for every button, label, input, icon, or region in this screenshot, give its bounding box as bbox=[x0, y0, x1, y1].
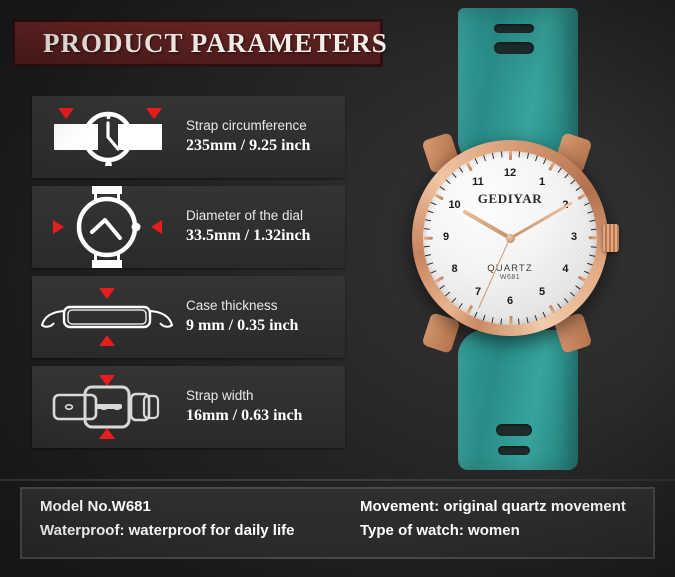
parameter-label: Case thickness bbox=[186, 299, 345, 314]
case-thickness-icon bbox=[32, 276, 182, 358]
info-waterproof: Waterproof: waterproof for daily life bbox=[40, 522, 360, 539]
panel-separator bbox=[0, 479, 675, 481]
watch-dial: 123456789101112 GEDIYAR QUARTZ W681 bbox=[423, 151, 597, 325]
dial-tick bbox=[510, 316, 512, 325]
strap-slot bbox=[498, 446, 530, 455]
marker-triangle-left bbox=[151, 220, 162, 234]
product-info-panel: Model No.W681 Movement: original quartz … bbox=[20, 487, 655, 559]
dial-tick bbox=[424, 229, 430, 230]
dial-tick bbox=[510, 151, 512, 160]
parameter-value: 33.5mm / 1.32inch bbox=[186, 227, 345, 245]
marker-triangle-right bbox=[53, 220, 64, 234]
page-title-bar: PRODUCT PARAMETERS bbox=[12, 19, 383, 67]
parameter-card-case-thickness: Case thickness 9 mm / 0.35 inch bbox=[32, 276, 345, 358]
dial-numeral: 1 bbox=[534, 176, 550, 188]
marker-triangle-up bbox=[99, 335, 115, 346]
parameter-card-list: Strap circumference 235mm / 9.25 inch Di… bbox=[32, 96, 345, 456]
parameter-label: Strap circumference bbox=[186, 119, 345, 134]
parameter-card-dial-diameter: Diameter of the dial 33.5mm / 1.32inch bbox=[32, 186, 345, 268]
marker-triangle-down bbox=[99, 288, 115, 299]
dial-numeral: 11 bbox=[470, 176, 486, 188]
dial-tick bbox=[424, 246, 430, 247]
strap-slot bbox=[494, 24, 534, 33]
parameter-value: 235mm / 9.25 inch bbox=[186, 137, 345, 155]
info-row: Model No.W681 Movement: original quartz … bbox=[40, 498, 635, 515]
strap-slot bbox=[496, 424, 532, 436]
dial-numeral: 9 bbox=[438, 231, 454, 243]
info-model: Model No.W681 bbox=[40, 498, 360, 515]
watch-case: 123456789101112 GEDIYAR QUARTZ W681 bbox=[412, 140, 608, 336]
hand-pin bbox=[506, 234, 515, 243]
strap-slot bbox=[494, 42, 534, 54]
watch-photo: 123456789101112 GEDIYAR QUARTZ W681 bbox=[398, 0, 675, 480]
strap-circumference-icon bbox=[32, 96, 182, 178]
strap-width-icon bbox=[32, 366, 182, 448]
dial-numeral: 6 bbox=[502, 295, 518, 307]
parameter-card-strap-circumference: Strap circumference 235mm / 9.25 inch bbox=[32, 96, 345, 178]
dial-tick bbox=[424, 237, 433, 239]
dial-tick bbox=[501, 319, 502, 325]
dial-model-text: W681 bbox=[423, 274, 597, 281]
marker-triangle-down-left bbox=[58, 108, 74, 119]
dial-diameter-icon bbox=[32, 186, 182, 268]
dial-movement-text: QUARTZ bbox=[423, 263, 597, 274]
dial-numeral: 3 bbox=[566, 231, 582, 243]
info-row: Waterproof: waterproof for daily life Ty… bbox=[40, 522, 635, 539]
dial-tick bbox=[518, 319, 519, 325]
info-movement: Movement: original quartz movement bbox=[360, 498, 626, 515]
parameter-label: Diameter of the dial bbox=[186, 209, 345, 224]
parameter-value: 9 mm / 0.35 inch bbox=[186, 317, 345, 335]
page-title: PRODUCT PARAMETERS bbox=[15, 28, 388, 59]
strap-bottom bbox=[458, 330, 578, 470]
parameter-card-strap-width: Strap width 16mm / 0.63 inch bbox=[32, 366, 345, 448]
info-type: Type of watch: women bbox=[360, 522, 520, 539]
marker-triangle-down bbox=[99, 375, 115, 386]
dial-numeral: 12 bbox=[502, 167, 518, 179]
parameter-label: Strap width bbox=[186, 389, 345, 404]
crown bbox=[603, 224, 619, 252]
marker-triangle-down-right bbox=[146, 108, 162, 119]
marker-triangle-up bbox=[99, 428, 115, 439]
parameter-value: 16mm / 0.63 inch bbox=[186, 407, 345, 425]
dial-tick bbox=[589, 237, 597, 239]
dial-numeral: 5 bbox=[534, 286, 550, 298]
